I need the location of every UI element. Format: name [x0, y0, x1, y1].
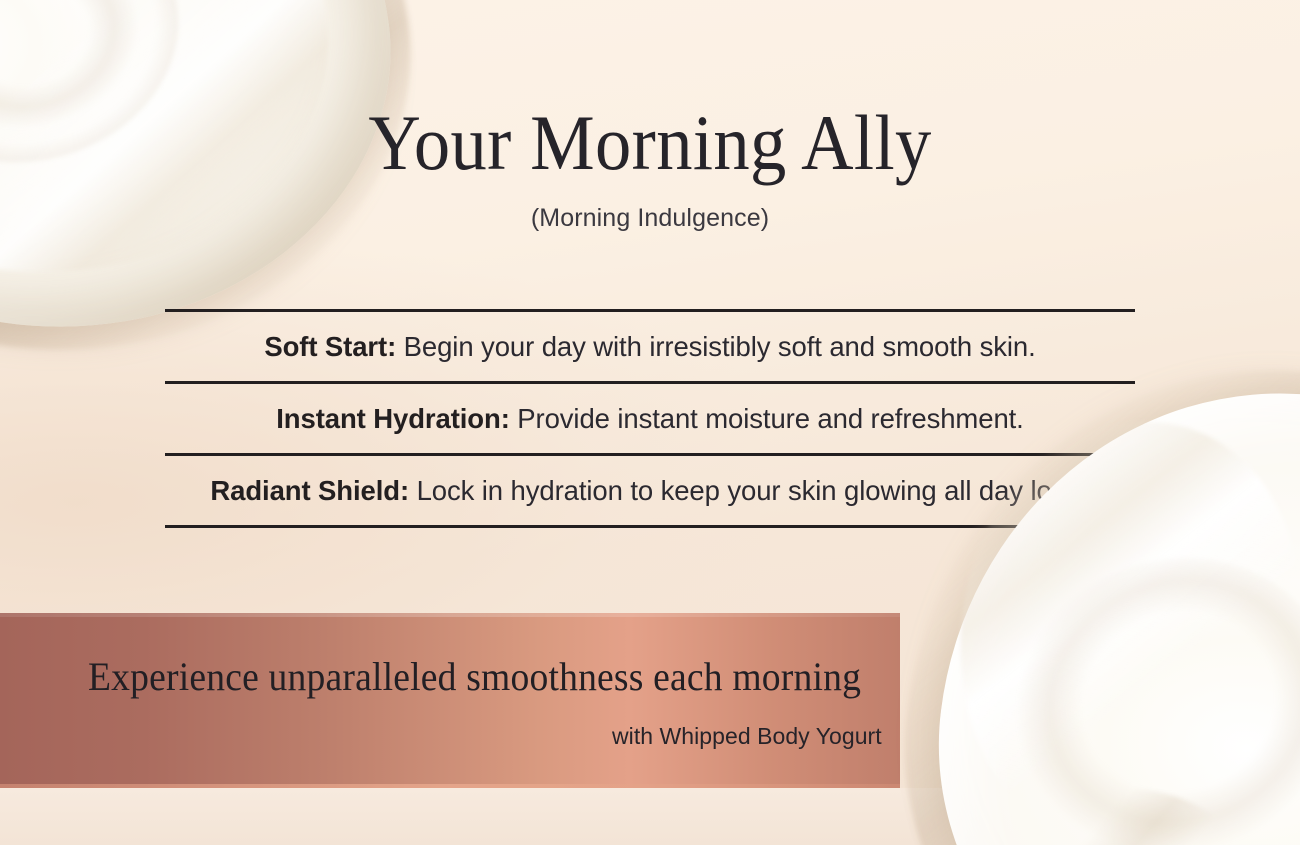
benefit-label: Radiant Shield:: [210, 475, 409, 506]
promo-poster: Your Morning Ally (Morning Indulgence) S…: [0, 0, 1300, 845]
list-item: Soft Start: Begin your day with irresist…: [0, 312, 1300, 381]
benefit-detail: Begin your day with irresistibly soft an…: [396, 331, 1036, 362]
page-title: Your Morning Ally: [46, 104, 1255, 182]
benefit-label: Soft Start:: [264, 331, 396, 362]
page-subtitle: (Morning Indulgence): [0, 204, 1300, 233]
benefit-text: Radiant Shield: Lock in hydration to kee…: [210, 475, 1089, 507]
benefit-text: Soft Start: Begin your day with irresist…: [264, 331, 1035, 363]
divider-bottom: [165, 525, 1020, 528]
banner-subline: with Whipped Body Yogurt: [612, 723, 882, 750]
headline-block: Your Morning Ally (Morning Indulgence): [0, 104, 1300, 233]
benefit-detail: Lock in hydration to keep your skin glow…: [409, 475, 1090, 506]
benefit-label: Instant Hydration:: [276, 403, 509, 434]
benefit-detail: Provide instant moisture and refreshment…: [510, 403, 1024, 434]
banner-headline: Experience unparalleled smoothness each …: [88, 653, 861, 700]
benefit-text: Instant Hydration: Provide instant moist…: [276, 403, 1023, 435]
tagline-banner: Experience unparalleled smoothness each …: [0, 613, 900, 788]
banner-top-sheen: [0, 613, 900, 617]
